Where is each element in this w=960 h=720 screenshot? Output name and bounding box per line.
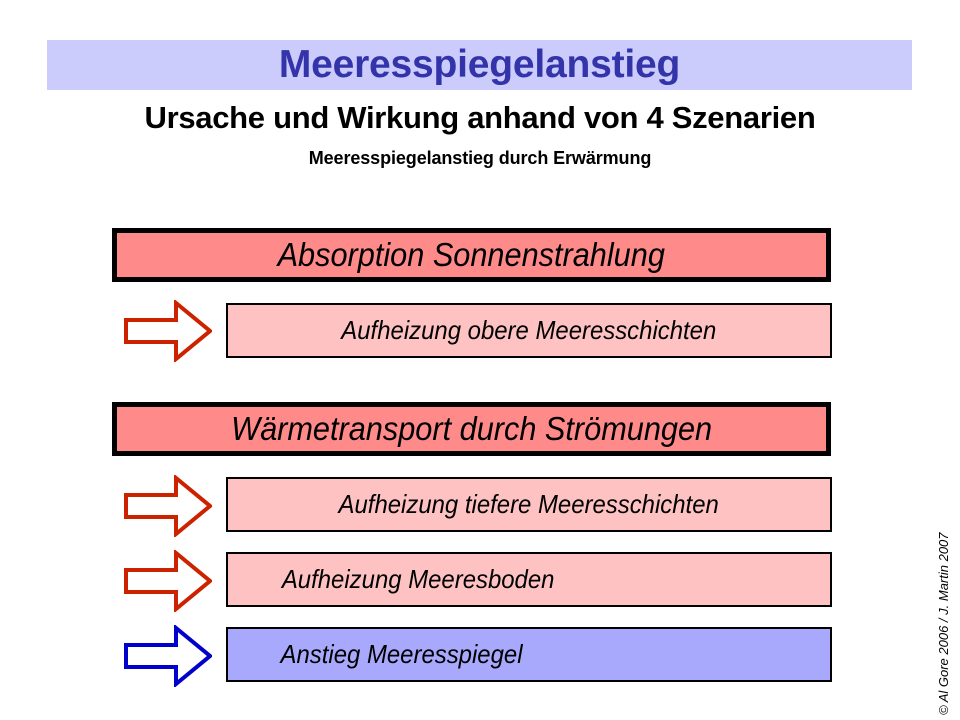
flow-box-anstieg-meeresspiegel: Anstieg Meeresspiegel — [226, 627, 832, 682]
slide-canvas: Meeresspiegelanstieg Ursache und Wirkung… — [0, 0, 960, 720]
flow-box-label: Aufheizung tiefere Meeresschichten — [339, 489, 719, 520]
flow-box-label: Wärmetransport durch Strömungen — [231, 410, 712, 448]
flow-box-label: Aufheizung obere Meeresschichten — [342, 315, 717, 346]
flow-box-waermetransport-durch-stroemungen: Wärmetransport durch Strömungen — [112, 402, 831, 456]
arrow-right-red-icon — [124, 300, 212, 362]
page-title: Meeresspiegelanstieg — [47, 40, 912, 90]
flow-box-label: Aufheizung Meeresboden — [282, 564, 555, 595]
subtitle-secondary: Meeresspiegelanstieg durch Erwärmung — [0, 148, 960, 169]
copyright-text: © Al Gore 2006 / J. Martin 2007 — [936, 515, 951, 715]
flow-box-label: Absorption Sonnenstrahlung — [278, 236, 665, 274]
title-banner: Meeresspiegelanstieg — [47, 40, 912, 90]
flow-box-aufheizung-obere-meeresschichten: Aufheizung obere Meeresschichten — [226, 303, 832, 358]
arrow-right-red-icon — [124, 550, 212, 612]
arrow-right-red-icon — [124, 475, 212, 537]
arrow-right-blue-icon — [124, 625, 212, 687]
flow-box-absorption-sonnenstrahlung: Absorption Sonnenstrahlung — [112, 228, 831, 282]
flow-box-label: Anstieg Meeresspiegel — [281, 639, 523, 670]
subtitle-primary: Ursache und Wirkung anhand von 4 Szenari… — [0, 100, 960, 136]
copyright-notice: © Al Gore 2006 / J. Martin 2007 — [932, 515, 954, 715]
flow-box-aufheizung-tiefere-meeresschichten: Aufheizung tiefere Meeresschichten — [226, 477, 832, 532]
flow-box-aufheizung-meeresboden: Aufheizung Meeresboden — [226, 552, 832, 607]
